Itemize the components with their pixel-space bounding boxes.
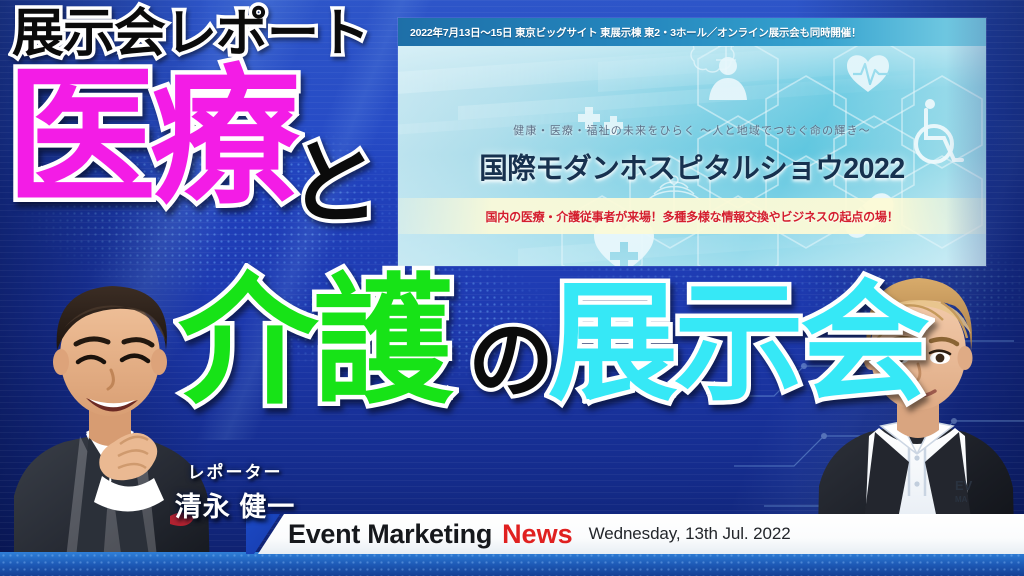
headline-particle: の	[468, 318, 554, 404]
headline-word-medical: 医療	[6, 62, 294, 212]
news-date: Wednesday, 13th Jul. 2022	[589, 524, 791, 544]
reporter-caption: レポーター 清永 健一	[150, 458, 320, 524]
banner-caption-text: 国内の医療・介護従事者が来場！多種多様な情報交換やビジネスの起点の場！	[485, 208, 898, 225]
reporter-role-label: レポーター	[150, 458, 320, 483]
banner-tagline: 健康・医療・福祉の未来をひらく ～人と地域でつむぐ命の輝き～	[398, 122, 986, 138]
svg-text:MA: MA	[955, 495, 968, 504]
banner-top-strip: 2022年7月13日〜15日 東京ビッグサイト 東展示棟 東2・3ホール／オンラ…	[398, 18, 986, 46]
banner-edge-shade	[946, 18, 986, 266]
banner-top-strip-text: 2022年7月13日〜15日 東京ビッグサイト 東展示棟 東2・3ホール／オンラ…	[398, 25, 861, 40]
thumbnail-canvas: 2022年7月13日〜15日 東京ビッグサイト 東展示棟 東2・3ホール／オンラ…	[0, 0, 1024, 576]
news-brand-accent: News	[502, 519, 573, 550]
news-bar-dot-texture	[0, 552, 1024, 576]
event-poster-banner: 2022年7月13日〜15日 東京ビッグサイト 東展示棟 東2・3ホール／オンラ…	[398, 18, 986, 266]
headline-word-expo: 展示会	[548, 278, 926, 408]
banner-title: 国際モダンホスピタルショウ2022	[398, 146, 986, 187]
reporter-name: 清永 健一	[150, 485, 320, 524]
headline-conjunction: と	[288, 138, 380, 230]
banner-caption-band: 国内の医療・介護従事者が来場！多種多様な情報交換やビジネスの起点の場！	[398, 198, 986, 234]
svg-text:EV: EV	[955, 478, 973, 493]
headline-word-care: 介護	[178, 272, 448, 412]
news-bar-panel: Event Marketing News Wednesday, 13th Jul…	[258, 514, 1024, 554]
